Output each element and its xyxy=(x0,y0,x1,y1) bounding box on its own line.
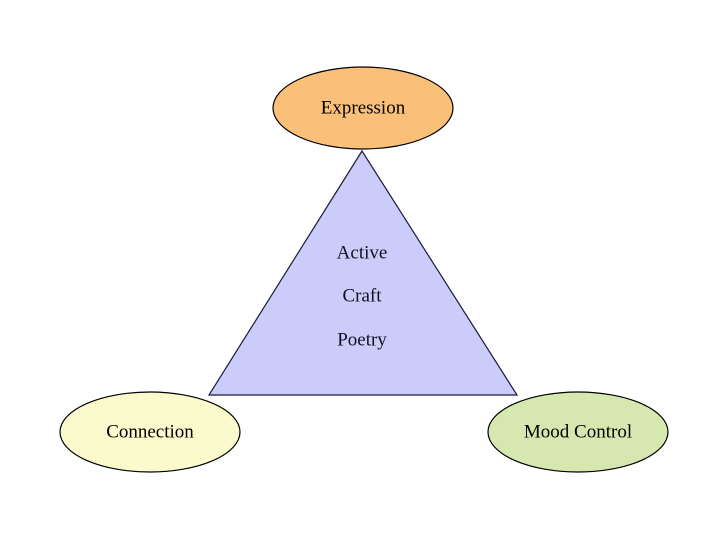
core-label-craft: Craft xyxy=(342,285,382,306)
core-label-poetry: Poetry xyxy=(337,329,387,350)
node-expression-label: Expression xyxy=(321,97,406,118)
node-mood-control[interactable]: Mood Control xyxy=(488,392,668,472)
core-triangle-group[interactable]: Active Craft Poetry xyxy=(209,151,517,395)
node-mood-control-label: Mood Control xyxy=(524,421,632,442)
node-expression[interactable]: Expression xyxy=(273,67,453,149)
node-connection-label: Connection xyxy=(106,421,194,442)
diagram-canvas: Active Craft Poetry Expression Connectio… xyxy=(0,0,720,540)
node-connection[interactable]: Connection xyxy=(60,392,240,472)
core-triangle-shape[interactable] xyxy=(209,151,517,395)
core-label-active: Active xyxy=(337,242,388,263)
concept-triangle-diagram: Active Craft Poetry Expression Connectio… xyxy=(0,0,720,540)
